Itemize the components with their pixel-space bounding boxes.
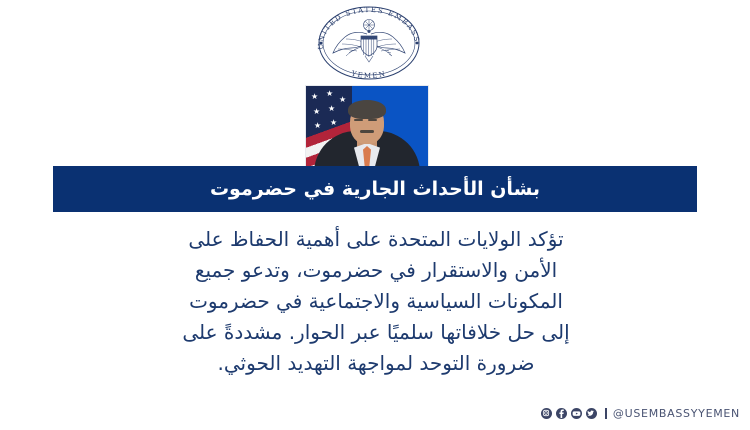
statement-line: المكونات السياسية والاجتماعية في حضرموت xyxy=(62,286,690,317)
flag-star: ★ xyxy=(313,108,320,116)
statement-line: إلى حل خلافاتها سلميًا عبر الحوار. مشددة… xyxy=(62,317,690,348)
social-links xyxy=(541,408,597,419)
seal-bottom-text: YEMEN xyxy=(350,69,388,80)
poster-canvas: UNITED STATES EMBASSY YEMEN xyxy=(0,0,750,430)
youtube-icon[interactable] xyxy=(571,408,582,419)
statement-body: تؤكد الولايات المتحدة على أهمية الحفاظ ع… xyxy=(62,224,690,379)
statement-line: الأمن والاستقرار في حضرموت، وتدعو جميع xyxy=(62,255,690,286)
social-handle[interactable]: @USEMBASSYYEMEN xyxy=(613,407,740,420)
statement-line: ضرورة التوحد لمواجهة التهديد الحوثي. xyxy=(62,348,690,379)
instagram-icon[interactable] xyxy=(541,408,552,419)
ambassador-portrait: ★ ★ ★ ★ ★ ★ ★ xyxy=(305,85,429,170)
flag-star: ★ xyxy=(311,93,318,101)
flag-star: ★ xyxy=(314,122,321,130)
footer-divider xyxy=(605,408,607,419)
headline-banner: بشأن الأحداث الجارية في حضرموت xyxy=(53,166,697,212)
portrait-eyebrow xyxy=(354,119,363,121)
portrait-eyebrow xyxy=(368,119,377,121)
footer-bar: @USEMBASSYYEMEN xyxy=(0,403,750,423)
flag-star: ★ xyxy=(328,105,335,113)
portrait-photo: ★ ★ ★ ★ ★ ★ ★ xyxy=(306,86,428,169)
headline-text: بشأن الأحداث الجارية في حضرموت xyxy=(210,178,540,200)
flag-star: ★ xyxy=(326,90,333,98)
embassy-seal-icon: UNITED STATES EMBASSY YEMEN xyxy=(305,4,433,82)
statement-line: تؤكد الولايات المتحدة على أهمية الحفاظ ع… xyxy=(62,224,690,255)
facebook-icon[interactable] xyxy=(556,408,567,419)
portrait-mustache xyxy=(360,130,374,133)
portrait-hair xyxy=(348,100,386,119)
svg-text:YEMEN: YEMEN xyxy=(350,69,388,80)
flag-star: ★ xyxy=(330,119,337,127)
flag-star: ★ xyxy=(339,96,346,104)
twitter-icon[interactable] xyxy=(586,408,597,419)
